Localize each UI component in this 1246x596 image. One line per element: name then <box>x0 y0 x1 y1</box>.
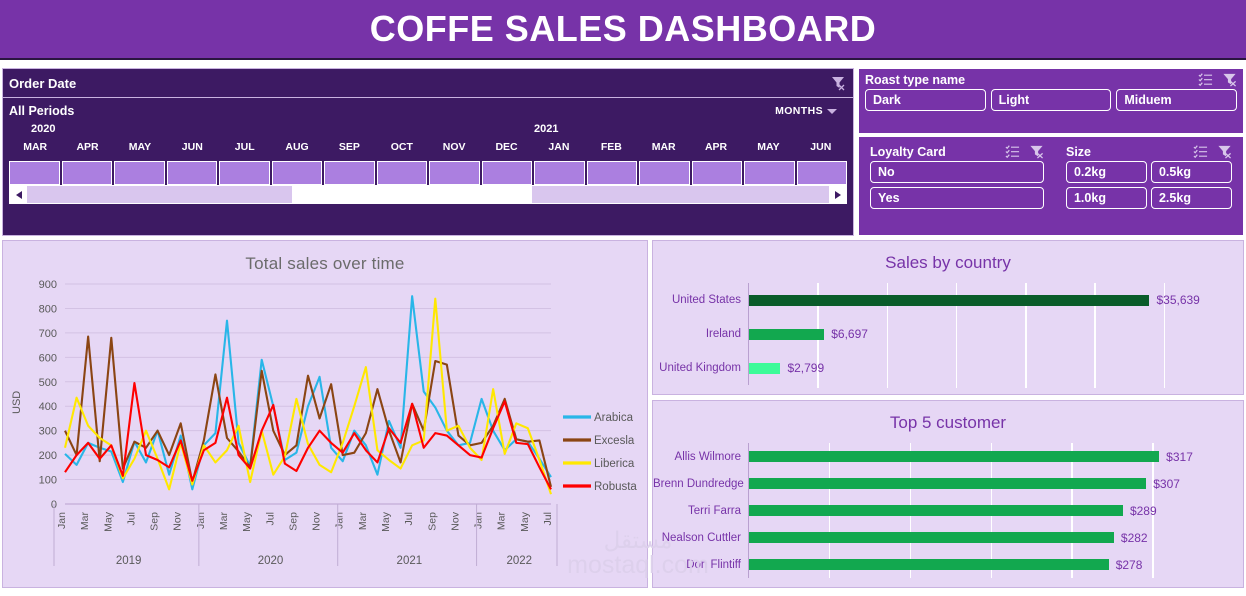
timeline-title: Order Date <box>9 76 76 91</box>
y-axis-tick: 900 <box>39 279 57 291</box>
bar-row: Nealson Cuttler$282 <box>653 524 1243 551</box>
bar-row: Ireland$6,697 <box>653 317 1243 351</box>
bar-fill[interactable] <box>749 329 824 340</box>
timeline-month-label-feb-11: FEB <box>585 141 637 159</box>
bar-track: $282 <box>748 524 1243 551</box>
timeline-month-cell-mar-12[interactable] <box>639 161 690 185</box>
timeline-granularity-label: MONTHS <box>775 105 823 117</box>
slicer-size-option-2-5kg[interactable]: 2.5kg <box>1151 187 1232 209</box>
timeline-slicer-order-date[interactable]: Order Date All Periods MONTHS 2020 2021 … <box>2 68 854 236</box>
timeline-month-label-dec-9: DEC <box>480 141 532 159</box>
slicer-size-items[interactable]: 0.2kg0.5kg1.0kg2.5kg <box>1060 161 1238 213</box>
x-axis-tick: Jan <box>334 512 346 529</box>
legend-label-robusta: Robusta <box>594 481 637 493</box>
x-axis-tick: May <box>519 511 531 532</box>
x-axis-tick: Jan <box>195 512 207 529</box>
y-axis-tick: 700 <box>39 328 57 340</box>
timeline-month-label-jul-4: JUL <box>219 141 271 159</box>
slicer-loyalty-card[interactable]: Loyalty Card NoYes <box>859 137 1055 235</box>
chart-title-sales-by-country: Sales by country <box>653 241 1243 273</box>
timeline-month-label-apr-1: APR <box>61 141 113 159</box>
multi-select-icon[interactable] <box>1198 72 1213 87</box>
bar-fill[interactable] <box>749 478 1146 489</box>
x-axis-tick: Mar <box>496 512 508 531</box>
bar-value-label: $307 <box>1153 477 1180 491</box>
arrow-right-icon[interactable] <box>829 186 846 203</box>
timeline-month-cell-feb-11[interactable] <box>587 161 638 185</box>
timeline-month-cell-oct-7[interactable] <box>377 161 428 185</box>
line-chart-plot-area: USD 0100200300400500600700800900JanMarMa… <box>3 274 647 574</box>
bar-row: Brenn Dundredge$307 <box>653 470 1243 497</box>
page-title: COFFE SALES DASHBOARD <box>370 8 877 50</box>
slicer-bottom-group[interactable]: Loyalty Card NoYes <box>858 136 1244 236</box>
y-axis-tick: 100 <box>39 475 57 487</box>
y-axis-tick: 200 <box>39 450 57 462</box>
bar-track: $35,639 <box>748 283 1243 317</box>
timeline-month-cell-may-2[interactable] <box>114 161 165 185</box>
bar-category-label: United Kingdom <box>653 362 748 374</box>
dashboard-title-banner: COFFE SALES DASHBOARD <box>0 0 1246 60</box>
clear-filter-icon[interactable] <box>1217 144 1232 159</box>
bar-category-label: Don Flintiff <box>653 559 748 571</box>
timeline-month-label-oct-7: OCT <box>376 141 428 159</box>
x-axis-tick: Sep <box>287 512 299 531</box>
x-axis-tick: Jul <box>125 512 137 525</box>
slicer-loyalty-option-no[interactable]: No <box>870 161 1044 183</box>
x-axis-tick: Sep <box>426 512 438 531</box>
timeline-year-2021: 2021 <box>534 123 558 135</box>
bar-row: Don Flintiff$278 <box>653 551 1243 578</box>
bar-fill[interactable] <box>749 532 1114 543</box>
timeline-month-label-sep-6: SEP <box>323 141 375 159</box>
bar-track: $289 <box>748 497 1243 524</box>
sales-by-country-rows: United States$35,639Ireland$6,697United … <box>653 283 1243 388</box>
slicer-roast-option-light[interactable]: Light <box>991 89 1112 111</box>
bar-track: $317 <box>748 443 1243 470</box>
y-axis-tick: 500 <box>39 377 57 389</box>
bar-track: $307 <box>748 470 1243 497</box>
chevron-down-icon <box>827 109 837 114</box>
x-axis-tick: Jul <box>403 512 415 525</box>
bar-value-label: $6,697 <box>831 327 868 341</box>
y-axis-tick: 600 <box>39 352 57 364</box>
x-axis-tick: Sep <box>149 512 161 531</box>
timeline-month-label-apr-13: APR <box>690 141 742 159</box>
slicer-roast-option-dark[interactable]: Dark <box>865 89 986 111</box>
legend-label-liberica: Liberica <box>594 458 635 470</box>
slicer-roast-option-miduem[interactable]: Miduem <box>1116 89 1237 111</box>
bar-fill[interactable] <box>749 505 1123 516</box>
bar-value-label: $278 <box>1116 558 1143 572</box>
multi-select-icon[interactable] <box>1193 144 1208 159</box>
timeline-month-labels: MARAPRMAYJUNJULAUGSEPOCTNOVDECJANFEBMARA… <box>9 141 847 159</box>
bar-category-label: Nealson Cuttler <box>653 532 748 544</box>
timeline-scroll-track[interactable] <box>27 186 829 203</box>
timeline-header: Order Date <box>3 69 853 98</box>
chart-top-5-customer: Top 5 customer Allis Wilmore$317Brenn Du… <box>652 400 1244 588</box>
timeline-month-label-jan-10: JAN <box>533 141 585 159</box>
timeline-month-cell-nov-8[interactable] <box>429 161 480 185</box>
x-axis-year-label: 2022 <box>506 555 532 567</box>
legend-label-arabica: Arabica <box>594 412 634 424</box>
timeline-month-cell-jun-15[interactable] <box>797 161 848 185</box>
y-axis-tick: 300 <box>39 426 57 438</box>
y-axis-tick: 400 <box>39 401 57 413</box>
timeline-year-row: 2020 2021 <box>9 123 847 140</box>
timeline-month-cell-apr-13[interactable] <box>692 161 743 185</box>
clear-filter-icon[interactable] <box>1222 72 1237 87</box>
bar-track: $278 <box>748 551 1243 578</box>
timeline-month-cell-sep-6[interactable] <box>324 161 375 185</box>
slicer-roast-items[interactable]: DarkLightMiduem <box>859 89 1243 115</box>
timeline-month-label-jun-15: JUN <box>795 141 847 159</box>
clear-filter-icon[interactable] <box>830 75 846 91</box>
timeline-month-cell-aug-5[interactable] <box>272 161 323 185</box>
line-chart-svg: 0100200300400500600700800900JanMarMayJul… <box>3 274 649 574</box>
bar-row: United States$35,639 <box>653 283 1243 317</box>
timeline-month-cell-jun-3[interactable] <box>167 161 218 185</box>
timeline-month-label-aug-5: AUG <box>271 141 323 159</box>
slicer-loyalty-option-yes[interactable]: Yes <box>870 187 1044 209</box>
bar-fill[interactable] <box>749 363 780 374</box>
bar-track: $2,799 <box>748 351 1243 385</box>
line-series-liberica <box>65 299 551 495</box>
bar-category-label: Ireland <box>653 328 748 340</box>
timeline-month-cell-dec-9[interactable] <box>482 161 533 185</box>
bar-value-label: $35,639 <box>1156 293 1199 307</box>
timeline-scroll-thumb[interactable] <box>292 186 533 203</box>
x-axis-tick: Mar <box>218 512 230 531</box>
timeline-year-2020: 2020 <box>31 123 55 135</box>
chart-sales-by-country: Sales by country United States$35,639Ire… <box>652 240 1244 395</box>
timeline-scrollbar[interactable] <box>9 185 847 204</box>
multi-select-icon[interactable] <box>1005 144 1020 159</box>
bar-category-label: Brenn Dundredge <box>653 478 748 490</box>
timeline-month-cell-apr-1[interactable] <box>62 161 113 185</box>
x-axis-tick: Mar <box>357 512 369 531</box>
bar-category-label: United States <box>653 294 748 306</box>
clear-filter-icon[interactable] <box>1029 144 1044 159</box>
timeline-month-label-mar-0: MAR <box>9 141 61 159</box>
x-axis-tick: May <box>380 511 392 532</box>
slicer-size-option-0-5kg[interactable]: 0.5kg <box>1151 161 1232 183</box>
x-axis-year-label: 2021 <box>397 555 423 567</box>
slicer-size-option-0-2kg[interactable]: 0.2kg <box>1066 161 1147 183</box>
slicer-roast-header: Roast type name <box>859 69 1243 89</box>
slicer-loyalty-items[interactable]: NoYes <box>864 161 1050 213</box>
x-axis-tick: Jan <box>473 512 485 529</box>
slicer-size-option-1-0kg[interactable]: 1.0kg <box>1066 187 1147 209</box>
x-axis-tick: Nov <box>172 511 184 530</box>
bar-category-label: Allis Wilmore <box>653 451 748 463</box>
bar-fill[interactable] <box>749 451 1159 462</box>
top-5-customer-rows: Allis Wilmore$317Brenn Dundredge$307Terr… <box>653 443 1243 578</box>
x-axis-year-label: 2019 <box>116 555 142 567</box>
timeline-granularity-dropdown[interactable]: MONTHS <box>775 105 837 117</box>
y-axis-label: USD <box>11 391 23 414</box>
x-axis-tick: Nov <box>449 511 461 530</box>
bar-value-label: $282 <box>1121 531 1148 545</box>
chart-title-top-5-customer: Top 5 customer <box>653 401 1243 433</box>
x-axis-tick: Jan <box>56 512 68 529</box>
timeline-month-label-may-2: MAY <box>114 141 166 159</box>
timeline-month-cell-mar-0[interactable] <box>9 161 60 185</box>
y-axis-tick: 800 <box>39 303 57 315</box>
chart-total-sales-over-time: Total sales over time USD 01002003004005… <box>2 240 648 588</box>
timeline-all-periods-label: All Periods <box>9 104 74 118</box>
slicer-loyalty-title: Loyalty Card <box>870 145 946 159</box>
timeline-month-cells[interactable] <box>9 161 847 185</box>
bar-track: $6,697 <box>748 317 1243 351</box>
x-axis-year-label: 2020 <box>258 555 284 567</box>
bar-row: Terri Farra$289 <box>653 497 1243 524</box>
slicer-loyalty-header: Loyalty Card <box>864 141 1050 161</box>
slicer-roast-title: Roast type name <box>865 73 965 87</box>
x-axis-tick: Jul <box>264 512 276 525</box>
x-axis-tick: Jul <box>542 512 554 525</box>
legend-label-excesla: Excesla <box>594 435 635 447</box>
timeline-body[interactable]: All Periods MONTHS 2020 2021 MARAPRMAYJU… <box>3 98 853 235</box>
x-axis-tick: Mar <box>79 512 91 531</box>
bar-fill[interactable] <box>749 295 1149 306</box>
bar-value-label: $2,799 <box>787 361 824 375</box>
timeline-month-label-mar-12: MAR <box>638 141 690 159</box>
timeline-month-label-jun-3: JUN <box>166 141 218 159</box>
slicer-size[interactable]: Size 0.2kg0.5kg1.0k <box>1055 137 1243 235</box>
bar-row: Allis Wilmore$317 <box>653 443 1243 470</box>
timeline-month-label-nov-8: NOV <box>428 141 480 159</box>
chart-title-total-sales: Total sales over time <box>3 241 647 274</box>
timeline-month-label-may-14: MAY <box>742 141 794 159</box>
timeline-month-cell-jan-10[interactable] <box>534 161 585 185</box>
line-series-arabica <box>65 296 551 489</box>
bar-row: United Kingdom$2,799 <box>653 351 1243 385</box>
slicer-size-header: Size <box>1060 141 1238 161</box>
x-axis-tick: May <box>102 511 114 532</box>
bar-value-label: $317 <box>1166 450 1193 464</box>
x-axis-tick: May <box>241 511 253 532</box>
bar-category-label: Terri Farra <box>653 505 748 517</box>
timeline-month-cell-may-14[interactable] <box>744 161 795 185</box>
slicer-roast-type-name[interactable]: Roast type name DarkLightMiduem <box>858 68 1244 134</box>
timeline-month-cell-jul-4[interactable] <box>219 161 270 185</box>
bar-fill[interactable] <box>749 559 1109 570</box>
arrow-left-icon[interactable] <box>10 186 27 203</box>
bar-value-label: $289 <box>1130 504 1157 518</box>
slicer-size-title: Size <box>1066 145 1091 159</box>
x-axis-tick: Nov <box>311 511 323 530</box>
line-series-robusta <box>65 383 551 489</box>
